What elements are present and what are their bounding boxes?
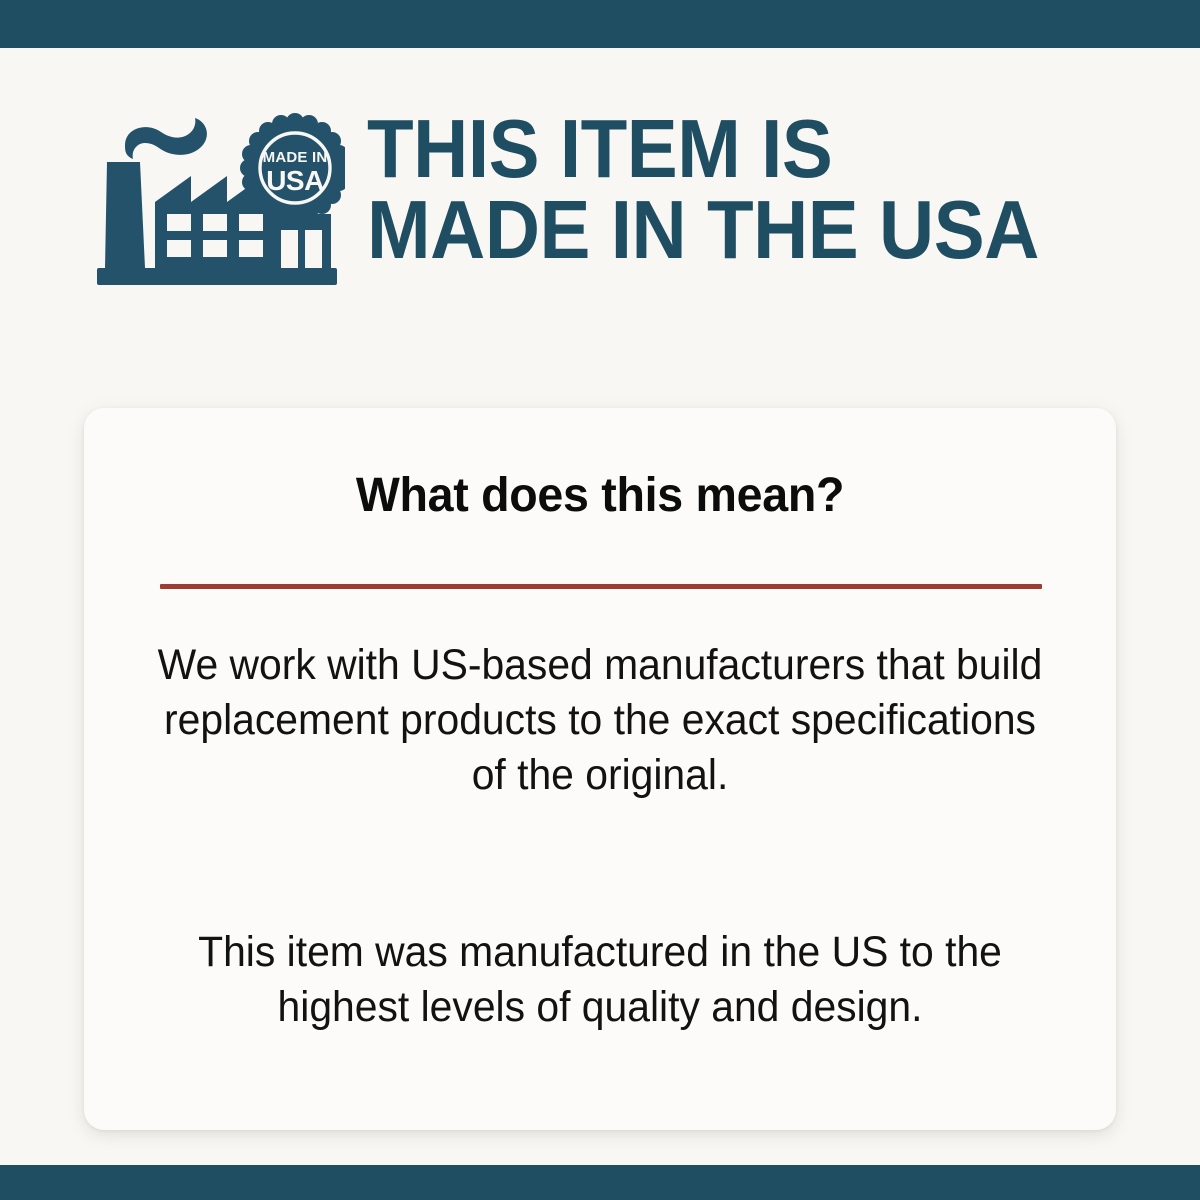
page-title: THIS ITEM IS MADE IN THE USA bbox=[367, 108, 1039, 271]
card-paragraph-2: This item was manufactured in the US to … bbox=[148, 925, 1052, 1035]
svg-text:MADE IN: MADE IN bbox=[263, 149, 328, 166]
card-divider bbox=[160, 584, 1042, 589]
page-title-line-1: THIS ITEM IS bbox=[367, 108, 1039, 189]
card-paragraph-1: We work with US-based manufacturers that… bbox=[148, 638, 1052, 803]
bottom-accent-bar bbox=[0, 1165, 1200, 1200]
svg-text:USA: USA bbox=[266, 165, 324, 196]
header: MADE IN USA THIS ITEM IS MADE IN THE USA bbox=[95, 100, 1155, 290]
factory-icon: MADE IN USA bbox=[95, 110, 345, 295]
card-body: We work with US-based manufacturers that… bbox=[148, 638, 1052, 1035]
page-canvas: MADE IN USA THIS ITEM IS MADE IN THE USA… bbox=[0, 48, 1200, 1165]
page-title-line-2: MADE IN THE USA bbox=[367, 189, 1039, 270]
top-accent-bar bbox=[0, 0, 1200, 48]
info-card: What does this mean? We work with US-bas… bbox=[84, 408, 1116, 1130]
card-heading: What does this mean? bbox=[99, 468, 1100, 523]
